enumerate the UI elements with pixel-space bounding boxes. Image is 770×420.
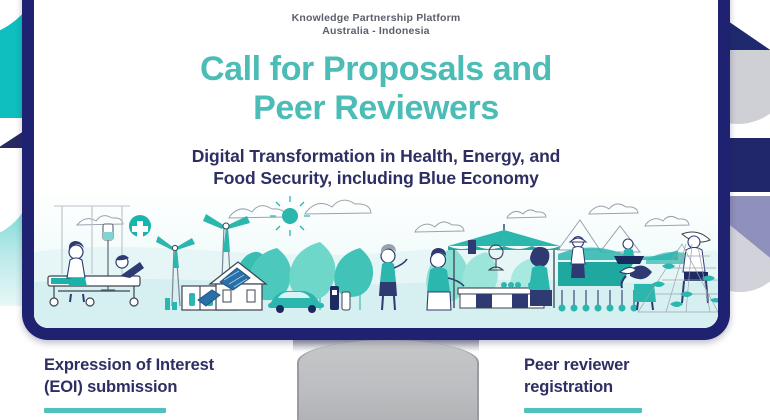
device-frame: Knowledge Partnership Platform Australia… [22, 0, 730, 340]
device-stand [297, 340, 479, 420]
peer-reviewer-caption: Peer reviewer registration [524, 354, 754, 413]
org-name-line-2: Australia - Indonesia [34, 25, 718, 38]
farmer-standing [570, 237, 586, 279]
page-title: Call for Proposals and Peer Reviewers [34, 50, 718, 128]
peer-caption-rule [524, 408, 642, 413]
device-screen: Knowledge Partnership Platform Australia… [34, 0, 718, 328]
poster-canvas: Knowledge Partnership Platform Australia… [0, 0, 770, 420]
eoi-caption-rule [44, 408, 166, 413]
eoi-caption-line-1: Expression of Interest [44, 354, 284, 376]
sun-icon [270, 196, 310, 236]
eoi-caption-line-2: (EOI) submission [44, 376, 284, 398]
eoi-submission-caption: Expression of Interest (EOI) submission [44, 354, 284, 413]
illustration-svg [34, 190, 718, 328]
peer-caption-line-1: Peer reviewer [524, 354, 754, 376]
page-title-line-2: Peer Reviewers [34, 89, 718, 128]
page-subtitle-line-2: Food Security, including Blue Economy [34, 167, 718, 189]
page-subtitle-line-1: Digital Transformation in Health, Energy… [34, 145, 718, 167]
org-name-line-1: Knowledge Partnership Platform [34, 12, 718, 25]
peer-caption-line-2: registration [524, 376, 754, 398]
hero-illustration [34, 190, 718, 328]
page-subtitle: Digital Transformation in Health, Energy… [34, 145, 718, 189]
page-title-line-1: Call for Proposals and [34, 50, 718, 89]
